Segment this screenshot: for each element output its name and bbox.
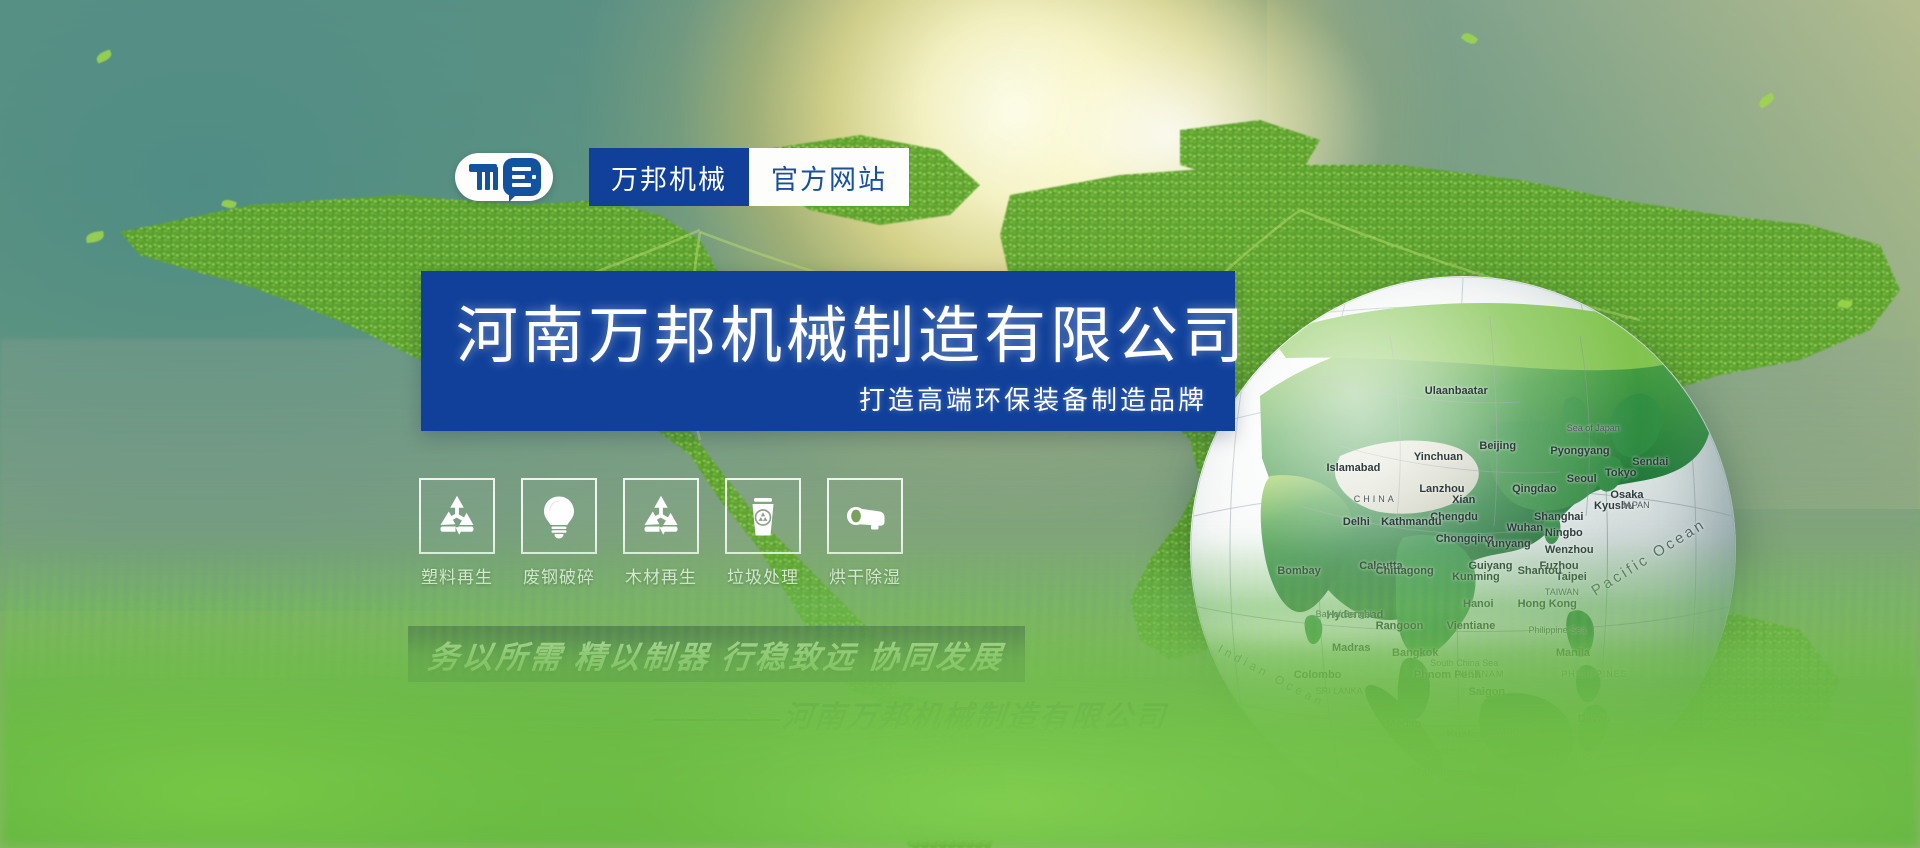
company-title-banner: 河南万邦机械制造有限公司 打造高端环保装备制造品牌 (421, 271, 1235, 431)
logo-b-speech-bubble-icon (503, 158, 541, 196)
logo-w-icon (469, 164, 497, 190)
header-tabs: 万邦机械 官方网站 (589, 148, 909, 206)
company-tagline: 打造高端环保装备制造品牌 (859, 380, 1207, 417)
dryer-icon (841, 492, 889, 540)
recycle-icon (637, 492, 685, 540)
lightbulb-icon (535, 492, 583, 540)
trash-bin-icon (739, 492, 787, 540)
hero-banner-page: UlaanbaatarBeijingLanzhouYinchuanPyongya… (0, 0, 1920, 848)
site-header: 万邦机械 官方网站 (455, 148, 909, 206)
grass-blade-texture (0, 543, 1920, 679)
recycle-icon (433, 492, 481, 540)
tab-wanbang-jixie[interactable]: 万邦机械 (589, 148, 749, 206)
tab-official-website[interactable]: 官方网站 (749, 148, 909, 206)
company-name: 河南万邦机械制造有限公司 (456, 285, 1248, 375)
wanbang-logo[interactable] (455, 153, 553, 201)
